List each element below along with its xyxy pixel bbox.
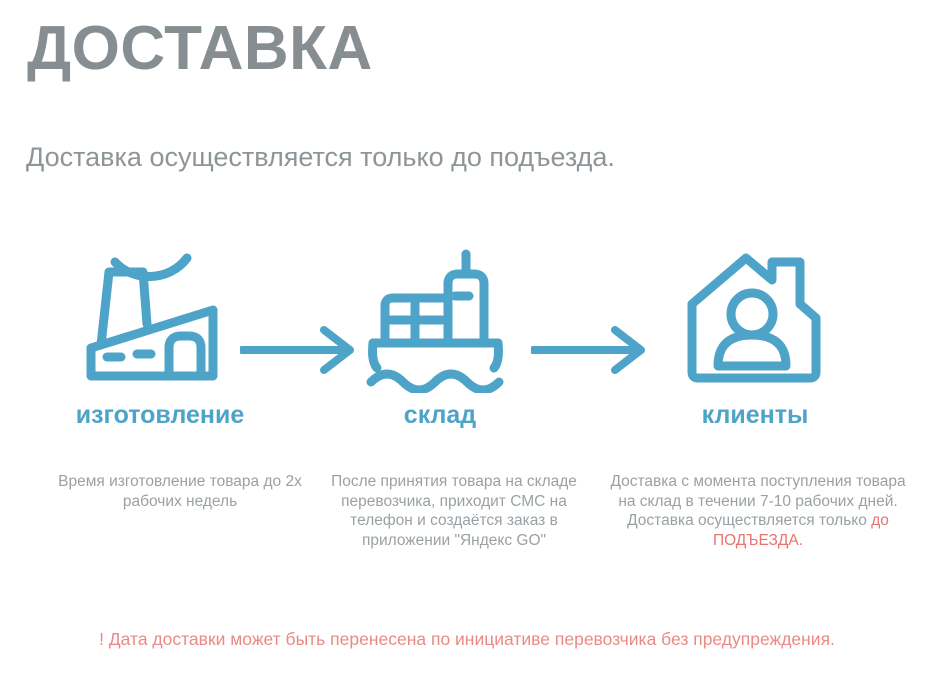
delivery-slide: ДОСТАВКА Доставка осуществляется только … (0, 0, 934, 700)
house-customer-icon (680, 248, 830, 393)
step-description-text: Время изготовление товара до 2х рабочих … (58, 473, 302, 510)
cargo-ship-icon (365, 248, 515, 393)
step-descriptions: Время изготовление товара до 2х рабочих … (0, 472, 934, 602)
step-description-clients: Доставка с момента поступления товара на… (608, 472, 908, 550)
flow-step-clients: клиенты (610, 248, 900, 448)
flow-step-label-clients: клиенты (610, 400, 900, 430)
page-subtitle: Доставка осуществляется только до подъез… (26, 138, 666, 176)
step-description-text: После принятия товара на складе перевозч… (331, 473, 577, 549)
factory-icon (85, 248, 235, 393)
step-description-manufacturing: Время изготовление товара до 2х рабочих … (40, 472, 320, 511)
flow-step-label-manufacturing: изготовление (15, 400, 305, 430)
delivery-flow-diagram: изготовление (0, 248, 934, 448)
step-description-text: Доставка с момента поступления товара на… (610, 473, 905, 529)
page-title: ДОСТАВКА (27, 13, 373, 85)
step-description-warehouse: После принятия товара на складе перевозч… (308, 472, 600, 550)
flow-step-label-warehouse: склад (295, 400, 585, 430)
footer-warning-note: ! Дата доставки может быть перенесена по… (40, 626, 894, 652)
